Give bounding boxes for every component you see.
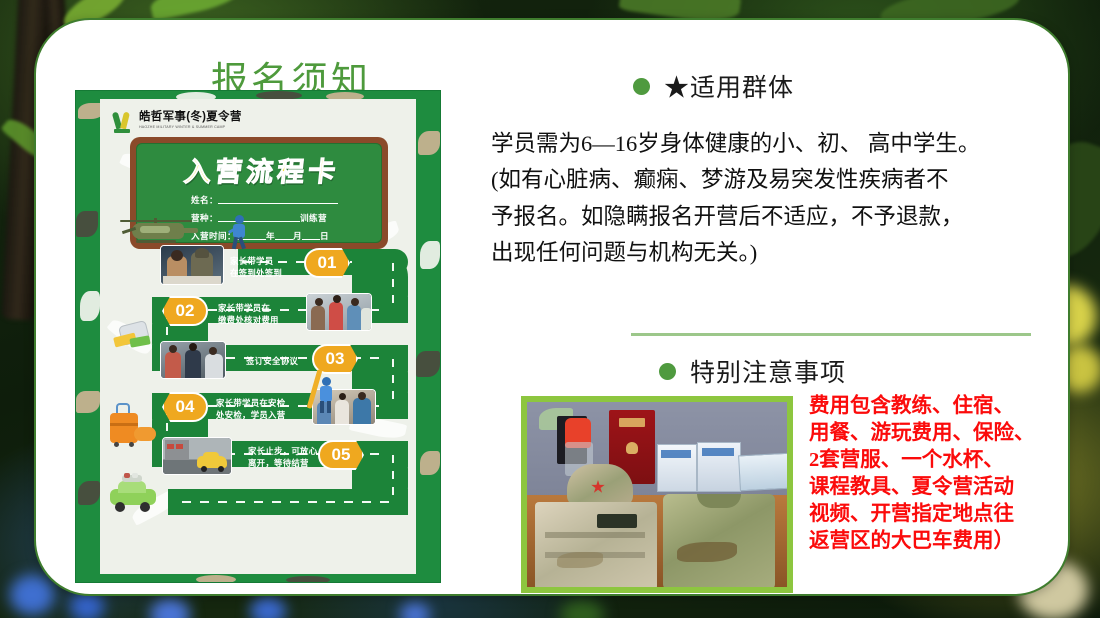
step-photo: [162, 437, 232, 475]
bullet-dot-icon: [633, 78, 650, 95]
photo-camo-pattern: [677, 542, 737, 562]
pencil-person-icon: [314, 369, 338, 413]
step-label: 家长止步，可放心 离开，等待结营: [248, 445, 317, 469]
field-year: 年: [266, 231, 275, 241]
section1-title: ★适用群体: [664, 68, 794, 104]
field-name-label: 姓名：: [191, 195, 218, 205]
luggage-icon: [108, 401, 160, 449]
camp-flow-poster: 皓哲军事(冬)夏令营 HAOZHE MILITARY WINTER & SUMM…: [75, 90, 441, 583]
field-month: 月: [293, 231, 302, 241]
step-photo: [160, 245, 224, 285]
section-applicable-group-header: ★适用群体: [491, 68, 1051, 104]
road-dash: [392, 359, 394, 405]
body-line: 出现任何问题与机构无关。): [491, 235, 1051, 271]
poster-logo-subtitle: HAOZHE MILITARY WINTER & SUMMER CAMP: [139, 126, 242, 130]
body-line: 予报名。如隐瞒报名开营后不适应，不予退款，: [491, 199, 1051, 235]
poster-logo: 皓哲军事(冬)夏令营 HAOZHE MILITARY WINTER & SUMM…: [112, 109, 242, 133]
red-line: 课程教具、夏令营活动: [809, 474, 1055, 501]
road-dash: [182, 501, 392, 503]
step-photo: [160, 341, 226, 379]
special-notes-text: 费用包含教练、住宿、 用餐、游玩费用、保险、 2套营服、一个水杯、 课程教具、夏…: [809, 393, 1055, 555]
field-day: 日: [320, 231, 329, 241]
poster-content: 皓哲军事(冬)夏令营 HAOZHE MILITARY WINTER & SUMM…: [100, 99, 416, 574]
photo-name-tag: [597, 514, 637, 528]
sprout-logo-icon: [112, 109, 134, 133]
camo-blob: [78, 481, 100, 505]
board-title: 入营流程卡: [149, 150, 375, 189]
step-label: 家长带学员在 缴费处核对费用: [218, 302, 279, 326]
camo-blob: [420, 241, 440, 269]
photo-certificate-title: [619, 418, 645, 427]
camo-blob: [196, 575, 236, 583]
photo-camo-pattern: [557, 552, 603, 568]
money-bag-icon: [114, 319, 158, 351]
poster-logo-title: 皓哲军事(冬)夏令营: [139, 112, 242, 124]
section2-title: 特别注意事项: [690, 353, 846, 389]
photo-uniform-fold: [545, 532, 645, 538]
red-line: 视频、开营指定地点往: [809, 501, 1055, 528]
camo-blob: [80, 291, 100, 321]
step-label: 签订安全协议: [246, 355, 298, 367]
camp-gear-photo: [521, 396, 793, 593]
step-photo: [306, 293, 372, 331]
red-line: 返营区的大巴车费用）: [809, 528, 1055, 555]
car-icon: [106, 473, 162, 513]
step-badge: 02: [162, 296, 208, 326]
camo-blob: [420, 451, 440, 475]
red-line: 2套营服、一个水杯、: [809, 447, 1055, 474]
camo-blob: [286, 576, 330, 583]
body-line: 学员需为6—16岁身体健康的小、初、 高中学生。: [491, 126, 1051, 162]
step-badge: 01: [304, 248, 350, 278]
camo-blob: [76, 211, 98, 237]
step-label: 家长带学员 在签到处签到: [230, 255, 282, 279]
photo-box-label: [702, 448, 734, 456]
slide-card: 报名须知 皓哲军事(冬)夏令: [34, 18, 1070, 596]
red-line: 费用包含教练、住宿、: [809, 393, 1055, 420]
section-divider: [631, 333, 1031, 336]
camo-blob: [418, 131, 440, 155]
road-dash: [392, 263, 394, 309]
photo-uniform-pants: [535, 502, 657, 590]
step-badge: 05: [318, 440, 364, 470]
field-camp-suffix: 训练营: [300, 213, 327, 223]
background-bokeh: [250, 596, 286, 618]
step-label: 家长带学员在安检 处安检，学员入营: [216, 397, 285, 421]
photo-brochure: [738, 453, 792, 492]
body-line: (如有心脏病、癫痫、梦游及易突发性疾病者不: [491, 162, 1051, 198]
step-road: 家长带学员 在签到处签到 01 02 家长带学员在 缴费处核对费用: [122, 249, 406, 566]
road-dash: [392, 455, 394, 501]
right-column: ★适用群体 学员需为6—16岁身体健康的小、初、 高中学生。 (如有心脏病、癫痫…: [491, 68, 1051, 272]
photo-certificate-emblem: [626, 442, 638, 454]
section1-body: 学员需为6—16岁身体健康的小、初、 高中学生。 (如有心脏病、癫痫、梦游及易突…: [491, 126, 1051, 272]
camo-blob: [76, 391, 100, 413]
bullet-dot-icon: [659, 363, 676, 380]
red-line: 用餐、游玩费用、保险、: [809, 420, 1055, 447]
camo-blob: [416, 351, 440, 377]
running-person-icon: [226, 215, 252, 249]
photo-box-label: [661, 450, 691, 458]
section-special-notes-header: 特别注意事项: [659, 353, 846, 389]
background-bokeh: [10, 575, 54, 615]
step-badge: 04: [162, 392, 208, 422]
